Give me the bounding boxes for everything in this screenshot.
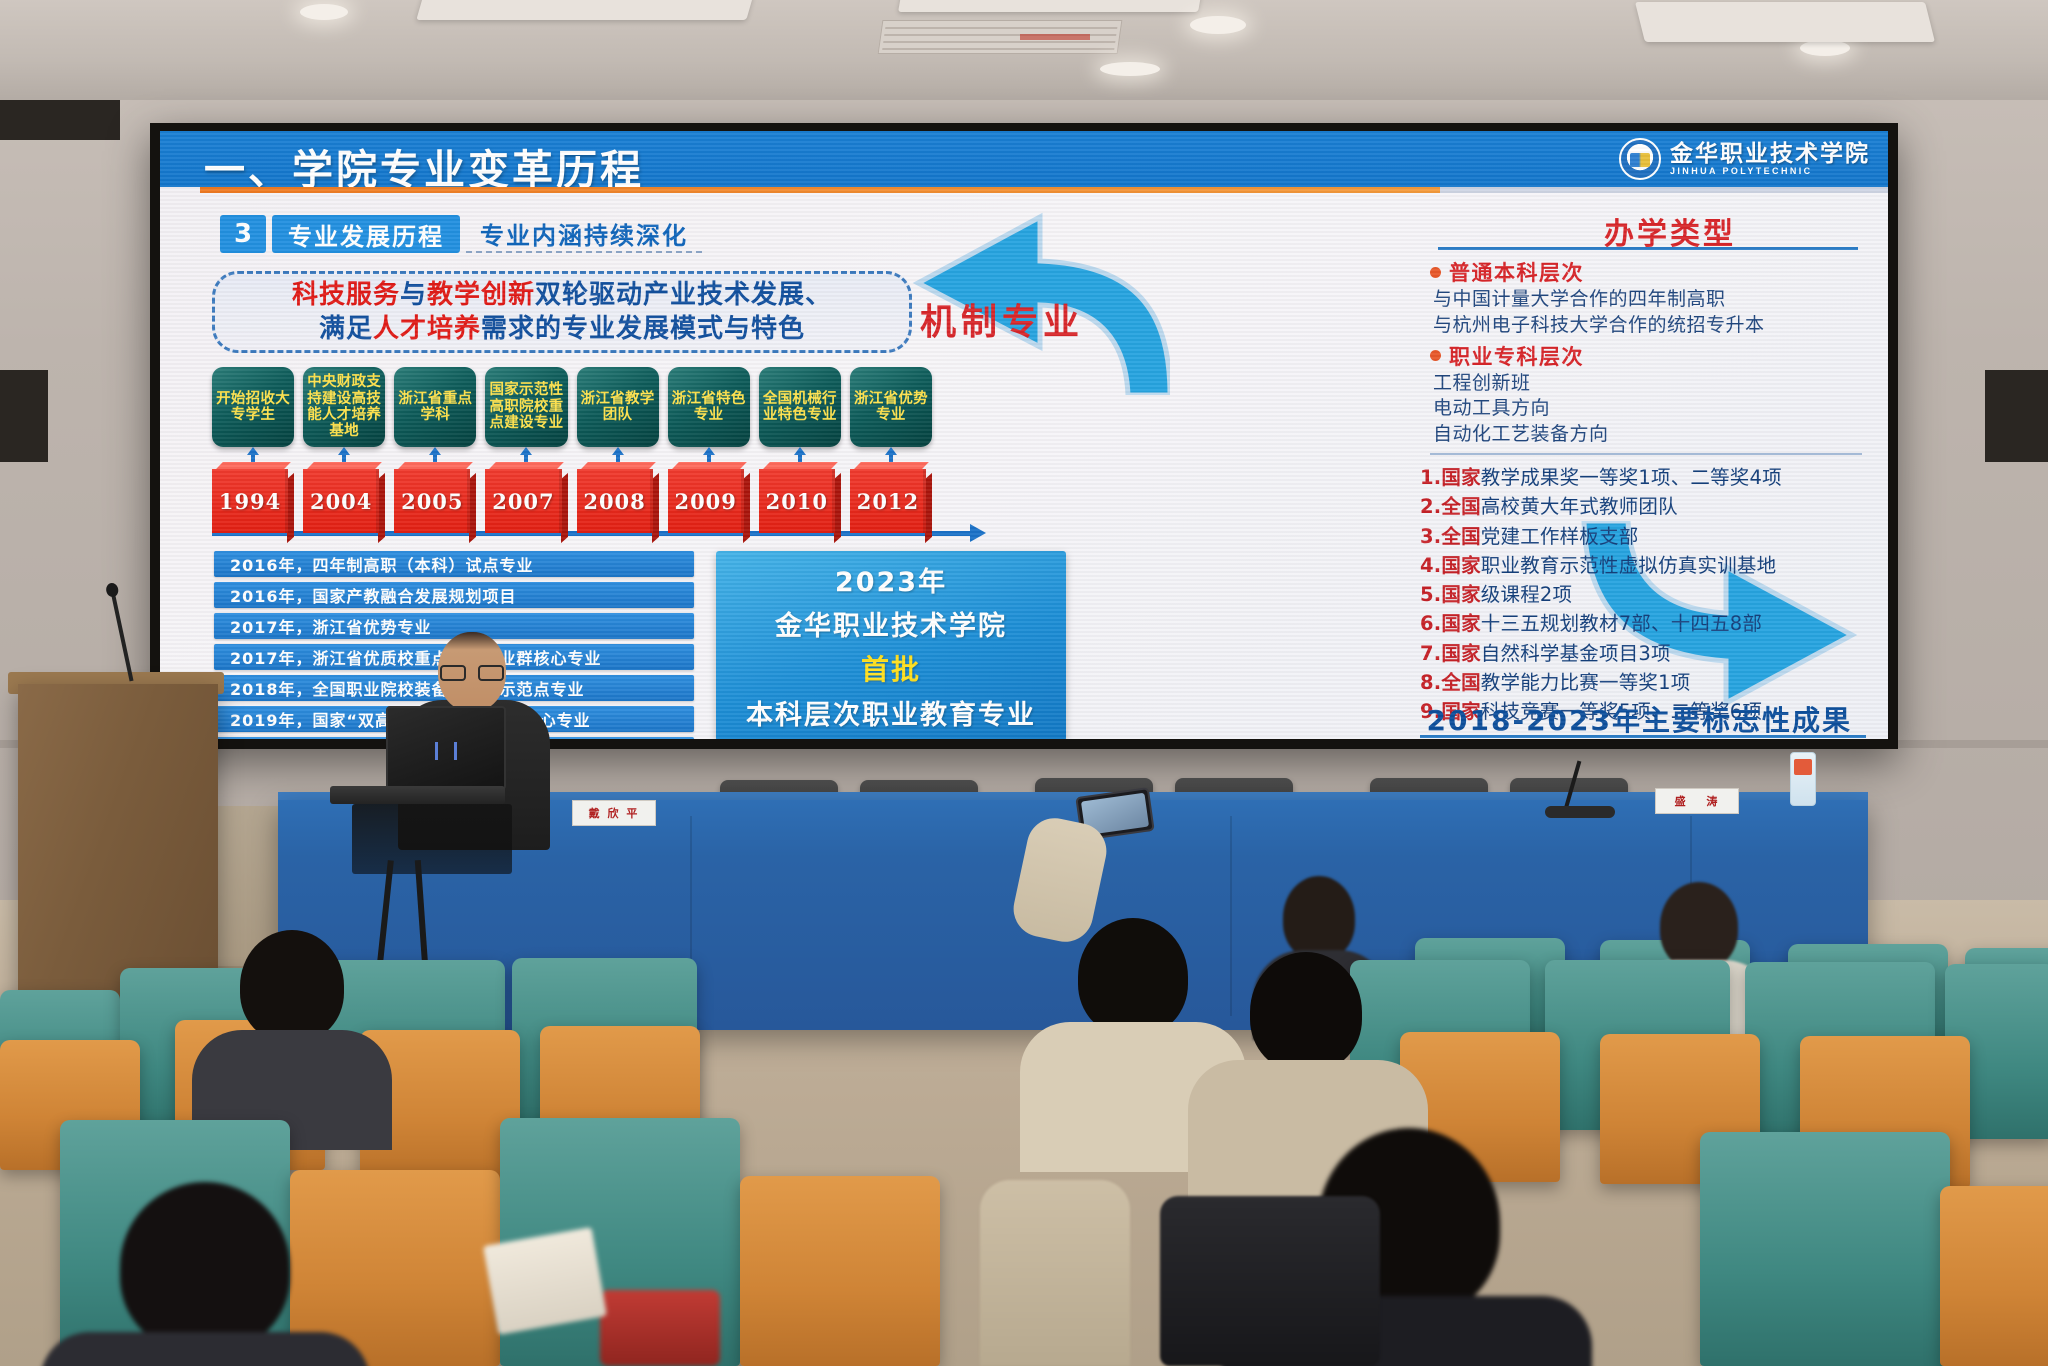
group-heading: 普通本科层次 bbox=[1430, 257, 1862, 287]
ceiling-light bbox=[300, 4, 348, 20]
audience-head bbox=[120, 1182, 290, 1352]
table-seam bbox=[1230, 816, 1232, 1016]
nameplate-label: 戴 欣 平 bbox=[589, 805, 640, 821]
achievements-banner: 2018-2023年主要标志性成果 bbox=[1427, 699, 1852, 739]
podium bbox=[18, 684, 218, 1014]
timeline-year-label: 2010 bbox=[766, 489, 828, 514]
timeline-box-label: 全国机械行业特色专业 bbox=[761, 391, 839, 424]
group-line: 与杭州电子科技大学合作的统招专升本 bbox=[1430, 313, 1862, 339]
group-heading-label: 职业专科层次 bbox=[1449, 341, 1584, 371]
achievement-row: 2.全国高校黄大年式教师团队 bbox=[1420, 492, 1866, 521]
audience-head bbox=[1660, 882, 1738, 970]
lecture-hall-photo: 一、学院专业变革历程 金华职业技术学院 JINHUA POLYTECHNIC 3… bbox=[0, 0, 2048, 1366]
achievement-row: 7.国家自然科学基金项目3项 bbox=[1420, 639, 1866, 668]
audience-head bbox=[1078, 918, 1188, 1036]
seat[interactable] bbox=[1940, 1186, 2048, 1366]
group-heading-label: 普通本科层次 bbox=[1449, 257, 1584, 287]
timeline-year: 2009 bbox=[668, 469, 750, 533]
timeline-year: 2010 bbox=[759, 469, 841, 533]
slide-title-underline bbox=[200, 187, 1440, 193]
timeline-year: 2005 bbox=[394, 469, 476, 533]
timeline-year: 2012 bbox=[850, 469, 932, 533]
mechanism-major-label: 机制专业 bbox=[920, 293, 1084, 345]
quote-line-1: 科技服务与教学创新双轮驱动产业技术发展、 bbox=[292, 278, 832, 312]
seat[interactable] bbox=[740, 1176, 940, 1366]
list-item-label: 2016年，四年制高职（本科）试点专业 bbox=[230, 552, 534, 576]
audience-shoulders bbox=[40, 1332, 370, 1366]
timeline-year-label: 2007 bbox=[492, 489, 554, 514]
panel-2023-tail: 本科层次职业教育专业 bbox=[746, 693, 1036, 732]
timeline-box-label: 国家示范性高职院校重点建设专业 bbox=[487, 382, 565, 431]
timeline-year: 2004 bbox=[303, 469, 385, 533]
ceiling-light bbox=[1190, 16, 1246, 34]
ceiling-panel bbox=[898, 0, 1202, 12]
list-item: 2017年，浙江省优势专业 bbox=[214, 613, 694, 639]
timeline-box-label: 浙江省特色专业 bbox=[670, 391, 748, 424]
bullet-dot-icon bbox=[1430, 350, 1441, 361]
panel-2023: 2023年 金华职业技术学院 首批 本科层次职业教育专业 bbox=[716, 551, 1066, 739]
timeline-year: 2007 bbox=[485, 469, 567, 533]
projection-screen: 一、学院专业变革历程 金华职业技术学院 JINHUA POLYTECHNIC 3… bbox=[150, 123, 1898, 749]
achievement-row: 5.国家级课程2项 bbox=[1420, 580, 1866, 609]
seat[interactable] bbox=[1700, 1132, 1950, 1366]
timeline-year-label: 1994 bbox=[219, 489, 281, 514]
wall-panel-left bbox=[0, 370, 48, 462]
paper-notebook bbox=[483, 1227, 607, 1335]
timeline-year-label: 2005 bbox=[401, 489, 463, 514]
timeline-box: 开始招收大专学生 bbox=[212, 367, 294, 447]
ceiling-light bbox=[1800, 40, 1850, 56]
slide-title-underline-right bbox=[1440, 187, 1888, 193]
timeline-box-label: 中央财政支持建设高技能人才培养基地 bbox=[305, 374, 383, 440]
nameplate: 盛 涛 bbox=[1655, 788, 1739, 814]
bullet-dot-icon bbox=[1430, 267, 1441, 278]
section-name: 专业发展历程 bbox=[272, 215, 460, 253]
timeline-milestones: 开始招收大专学生 中央财政支持建设高技能人才培养基地 浙江省重点学科 国家示范性… bbox=[212, 367, 932, 447]
audience-arm bbox=[980, 1180, 1130, 1366]
timeline-year-label: 2012 bbox=[857, 489, 919, 514]
timeline-year: 2008 bbox=[577, 469, 659, 533]
school-name-en: JINHUA POLYTECHNIC bbox=[1670, 166, 1870, 176]
section-number: 3 bbox=[220, 215, 266, 253]
achievement-row: 4.国家职业教育示范性虚拟仿真实训基地 bbox=[1420, 551, 1866, 580]
achievements-divider bbox=[1430, 453, 1862, 455]
list-item-label: 2018年，全国职业院校装备制造类示范点专业 bbox=[230, 676, 585, 700]
audience-head bbox=[240, 930, 344, 1042]
school-name-cn: 金华职业技术学院 bbox=[1670, 142, 1870, 166]
audience-head bbox=[1283, 876, 1355, 960]
list-item: 2016年，四年制高职（本科）试点专业 bbox=[214, 551, 694, 577]
timeline-years: 1994 2004 2005 2007 2008 2009 2010 2012 bbox=[212, 469, 932, 533]
timeline-year-label: 2009 bbox=[674, 489, 736, 514]
section-subtitle: 专业内涵持续深化 bbox=[466, 215, 702, 253]
wall-panel-right bbox=[1985, 370, 2048, 462]
highlight-quote-box: 科技服务与教学创新双轮驱动产业技术发展、 满足人才培养需求的专业发展模式与特色 bbox=[212, 271, 912, 353]
group-heading: 职业专科层次 bbox=[1430, 341, 1862, 371]
achievement-row: 6.国家十三五规划教材7部、十四五8部 bbox=[1420, 609, 1866, 638]
timeline-box-label: 浙江省重点学科 bbox=[396, 391, 474, 424]
panel-2023-school: 金华职业技术学院 bbox=[775, 604, 1007, 643]
timeline-year-label: 2004 bbox=[310, 489, 372, 514]
presentation-slide: 一、学院专业变革历程 金华职业技术学院 JINHUA POLYTECHNIC 3… bbox=[160, 131, 1888, 739]
achievements-banner-rule bbox=[1420, 735, 1866, 738]
timeline-box-label: 开始招收大专学生 bbox=[214, 391, 292, 424]
ceiling-panel bbox=[1635, 2, 1935, 42]
timeline-box: 浙江省特色专业 bbox=[668, 367, 750, 447]
achievements-list: 1.国家教学成果奖一等奖1项、二等奖4项 2.全国高校黄大年式教师团队 3.全国… bbox=[1420, 463, 1866, 726]
list-item-label: 2016年，国家产教融合发展规划项目 bbox=[230, 583, 517, 607]
laptop-screen bbox=[386, 706, 506, 790]
backpack bbox=[1160, 1196, 1380, 1366]
water-bottle bbox=[1790, 752, 1816, 806]
group-line: 电动工具方向 bbox=[1430, 396, 1862, 422]
timeline-box: 浙江省重点学科 bbox=[394, 367, 476, 447]
timeline-box: 中央财政支持建设高技能人才培养基地 bbox=[303, 367, 385, 447]
eyeglasses-icon bbox=[440, 665, 504, 681]
timeline-box: 全国机械行业特色专业 bbox=[759, 367, 841, 447]
panel-2023-highlight: 首批 bbox=[861, 648, 921, 688]
laptop-shadow bbox=[352, 804, 512, 874]
panel-2023-year: 2023年 bbox=[835, 560, 947, 599]
ceiling-marker bbox=[1020, 34, 1090, 40]
timeline-year: 1994 bbox=[212, 469, 294, 533]
group-line: 工程创新班 bbox=[1430, 371, 1862, 397]
microphone-base bbox=[1545, 806, 1615, 818]
quote-line-2: 满足人才培养需求的专业发展模式与特色 bbox=[319, 312, 805, 346]
school-logo: 金华职业技术学院 JINHUA POLYTECHNIC bbox=[1619, 135, 1870, 183]
wall-band bbox=[0, 100, 120, 140]
section-header: 3 专业发展历程 专业内涵持续深化 bbox=[220, 215, 702, 253]
timeline-box-label: 浙江省教学团队 bbox=[579, 391, 657, 424]
nameplate-label: 盛 涛 bbox=[1675, 793, 1720, 809]
nameplate: 戴 欣 平 bbox=[572, 800, 656, 826]
achievement-row: 3.全国党建工作样板支部 bbox=[1420, 522, 1866, 551]
achievement-row: 8.全国教学能力比赛一等奖1项 bbox=[1420, 668, 1866, 697]
list-item: 2016年，国家产教融合发展规划项目 bbox=[214, 582, 694, 608]
timeline-box: 浙江省教学团队 bbox=[577, 367, 659, 447]
school-type-groups: 普通本科层次 与中国计量大学合作的四年制高职 与杭州电子科技大学合作的统招专升本… bbox=[1430, 255, 1862, 448]
ceiling bbox=[0, 0, 2048, 110]
list-item-label: 2017年，浙江省优质校重点建设专业群核心专业 bbox=[230, 645, 602, 669]
laptop-keyboard[interactable] bbox=[330, 786, 505, 804]
group-line: 与中国计量大学合作的四年制高职 bbox=[1430, 287, 1862, 313]
list-item-label: 2017年，浙江省优势专业 bbox=[230, 614, 432, 638]
timeline-year-label: 2008 bbox=[583, 489, 645, 514]
audience-head bbox=[1250, 952, 1362, 1072]
school-type-rule bbox=[1438, 247, 1858, 250]
school-emblem-icon bbox=[1619, 138, 1661, 180]
timeline-box: 国家示范性高职院校重点建设专业 bbox=[485, 367, 567, 447]
achievement-row: 1.国家教学成果奖一等奖1项、二等奖4项 bbox=[1420, 463, 1866, 492]
ceiling-panel bbox=[416, 0, 753, 20]
group-line: 自动化工艺装备方向 bbox=[1430, 422, 1862, 448]
timeline-box-label: 浙江省优势专业 bbox=[852, 391, 930, 424]
ceiling-light bbox=[1100, 62, 1160, 76]
bag bbox=[600, 1290, 720, 1366]
